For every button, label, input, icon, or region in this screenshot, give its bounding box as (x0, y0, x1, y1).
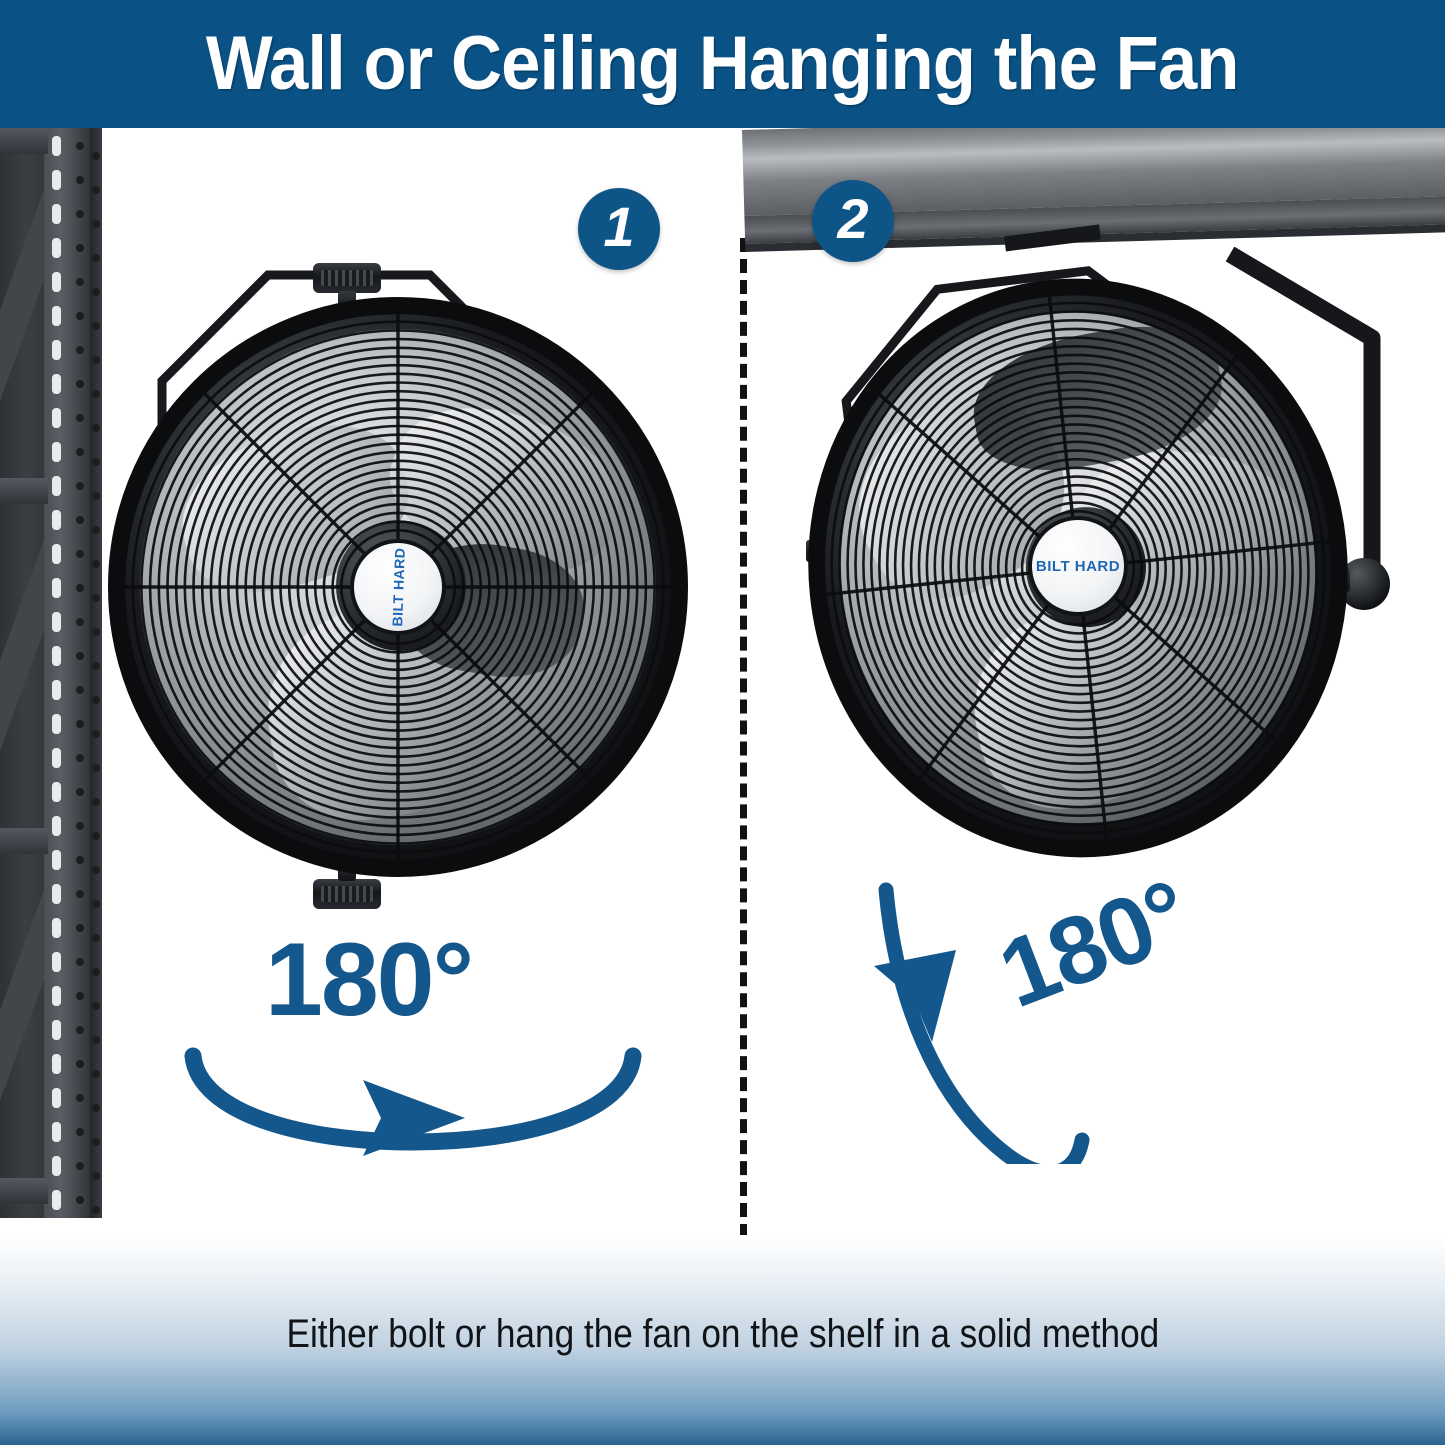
rack-hole (92, 968, 100, 976)
rack-hole (76, 890, 84, 898)
rack-slot (52, 782, 61, 802)
rack-hole (76, 652, 84, 660)
rack-hole (76, 176, 84, 184)
rack-hole (76, 346, 84, 354)
rack-slot (52, 1122, 61, 1142)
rack-slot (52, 1088, 61, 1108)
brand-logo-text: BILT HARD (389, 547, 408, 626)
rack-slot (52, 238, 61, 258)
rack-diagonal-brace (0, 858, 44, 1108)
rack-crossbeam (0, 478, 48, 504)
rack-front-face (44, 128, 90, 1218)
rack-hole (76, 142, 84, 150)
rack-hole (76, 788, 84, 796)
rack-hole (92, 526, 100, 534)
caption-text: Either bolt or hang the fan on the shelf… (286, 1312, 1159, 1357)
rack-hole (92, 662, 100, 670)
rack-hole (92, 730, 100, 738)
rotation-indicator-right: 180° (880, 928, 1200, 1228)
rotation-arrow-vertical-icon (870, 854, 1200, 1164)
rotation-arrow-horizontal-icon (175, 928, 655, 1158)
rack-hole (76, 686, 84, 694)
rack-hole (76, 244, 84, 252)
rack-slot (52, 986, 61, 1006)
rack-hole (76, 312, 84, 320)
rack-hole (92, 458, 100, 466)
fan-wall-mounted: BILT HARD (100, 263, 720, 943)
rack-hole (92, 288, 100, 296)
rack-slot (52, 646, 61, 666)
panel-divider (740, 238, 747, 1235)
rack-slot (52, 340, 61, 360)
fan-ceiling-mounted: BILT HARD (800, 268, 1380, 888)
rack-hole (92, 186, 100, 194)
fan-hub-badge-left: BILT HARD (354, 543, 442, 631)
caption-banner: Either bolt or hang the fan on the shelf… (0, 1235, 1445, 1445)
rack-slot (52, 1190, 61, 1210)
rack-hole (76, 380, 84, 388)
rack-hole (92, 1172, 100, 1180)
rack-slot (52, 374, 61, 394)
rack-hole (76, 754, 84, 762)
rack-hole (76, 516, 84, 524)
rack-slot (52, 816, 61, 836)
illustration-stage: BILT HARD (0, 128, 1445, 1235)
rack-hole (92, 322, 100, 330)
rack-hole (76, 1026, 84, 1034)
rack-slot (52, 408, 61, 428)
rack-hole (92, 594, 100, 602)
rack-hole (76, 1196, 84, 1204)
rack-hole (76, 210, 84, 218)
header-banner: Wall or Ceiling Hanging the Fan (0, 0, 1445, 128)
infographic-page: Wall or Ceiling Hanging the Fan (0, 0, 1445, 1445)
rack-hole (92, 934, 100, 942)
steel-rack-upright (0, 128, 108, 1218)
rack-slot (52, 884, 61, 904)
rack-hole (92, 254, 100, 262)
rack-slot (52, 476, 61, 496)
rack-slot (52, 714, 61, 734)
rack-hole (76, 992, 84, 1000)
rack-hole (92, 424, 100, 432)
rack-diagonal-brace (0, 508, 44, 758)
rack-hole (92, 1002, 100, 1010)
step-badge-two: 2 (812, 180, 894, 262)
rack-slot (52, 850, 61, 870)
rack-slot (52, 918, 61, 938)
rack-slot (52, 442, 61, 462)
step-badge-one: 1 (578, 188, 660, 270)
rack-hole (92, 764, 100, 772)
rack-hole (76, 618, 84, 626)
rack-hole (76, 414, 84, 422)
step-badge-one-label: 1 (603, 199, 634, 255)
rack-hole (92, 1036, 100, 1044)
rack-diagonal-brace (0, 158, 44, 408)
rack-hole (76, 550, 84, 558)
rack-hole (92, 560, 100, 568)
rack-hole (92, 356, 100, 364)
rack-hole (92, 220, 100, 228)
rack-hole (92, 900, 100, 908)
rack-hole (92, 1206, 100, 1214)
rack-slot (52, 612, 61, 632)
brand-logo-text: BILT HARD (1036, 558, 1120, 575)
rack-hole (92, 798, 100, 806)
page-title: Wall or Ceiling Hanging the Fan (206, 26, 1239, 102)
rack-slot (52, 1020, 61, 1040)
rack-hole (76, 822, 84, 830)
rack-hole (76, 1060, 84, 1068)
rack-hole (92, 1070, 100, 1078)
rack-hole (92, 696, 100, 704)
rack-hole (76, 958, 84, 966)
rack-crossbeam (0, 828, 48, 854)
rack-crossbeam (0, 1178, 48, 1204)
rack-hole (92, 390, 100, 398)
rack-slot (52, 170, 61, 190)
rack-hole (92, 492, 100, 500)
rack-hole (76, 482, 84, 490)
rack-slot (52, 680, 61, 700)
rack-slot (52, 306, 61, 326)
rack-hole (76, 856, 84, 864)
rack-hole (76, 720, 84, 728)
rotation-indicator-left: 180° (175, 928, 655, 1158)
rack-slot (52, 136, 61, 156)
rack-hole (76, 448, 84, 456)
rack-hole (92, 832, 100, 840)
rack-slot (52, 578, 61, 598)
rack-hole (76, 924, 84, 932)
rack-hole (92, 866, 100, 874)
step-badge-two-label: 2 (837, 191, 868, 247)
rack-hole (92, 1138, 100, 1146)
rack-slot (52, 510, 61, 530)
rack-slot (52, 952, 61, 972)
rack-hole (76, 1162, 84, 1170)
rack-hole (92, 152, 100, 160)
rack-slot (52, 544, 61, 564)
rack-slot (52, 204, 61, 224)
fan-hub-badge-right: BILT HARD (1032, 520, 1124, 612)
rack-crossbeam (0, 128, 48, 154)
rack-slot (52, 1054, 61, 1074)
rack-slot (52, 1156, 61, 1176)
rack-hole (92, 1104, 100, 1112)
rack-hole (92, 628, 100, 636)
rack-hole (76, 584, 84, 592)
rack-slot (52, 748, 61, 768)
rack-hole (76, 1094, 84, 1102)
rack-hole (76, 1128, 84, 1136)
rack-slot (52, 272, 61, 292)
rack-hole (76, 278, 84, 286)
